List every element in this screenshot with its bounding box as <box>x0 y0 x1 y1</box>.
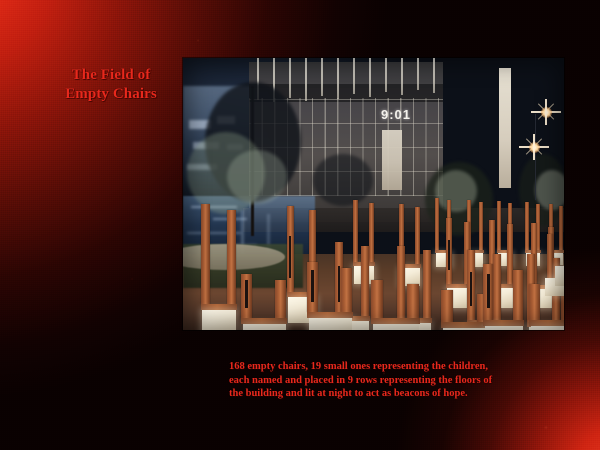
photo-clock-sign: 9:01 <box>374 107 418 122</box>
presentation-slide: 9:01 <box>0 0 600 450</box>
slide-title: The Field of Empty Chairs <box>36 66 186 104</box>
caption-line-2: each named and placed in 9 rows represen… <box>229 374 529 388</box>
photo-tree-lit-foliage <box>227 150 287 204</box>
photo-tree-canopy <box>313 154 373 206</box>
caption-line-3: the building and lit at night to act as … <box>229 387 529 401</box>
photo-lamp-pole <box>535 114 536 200</box>
photo-street-lamp <box>545 111 547 113</box>
field-of-empty-chairs-photo: 9:01 <box>183 58 564 330</box>
slide-caption: 168 empty chairs, 19 small ones represen… <box>229 360 529 401</box>
photo-gate-slab <box>382 130 402 190</box>
caption-line-1: 168 empty chairs, 19 small ones represen… <box>229 360 529 374</box>
title-line-2: Empty Chairs <box>36 85 186 104</box>
photo-street-lamp <box>533 146 535 148</box>
title-line-1: The Field of <box>36 66 186 85</box>
photo-tall-stone-slab <box>499 68 511 188</box>
